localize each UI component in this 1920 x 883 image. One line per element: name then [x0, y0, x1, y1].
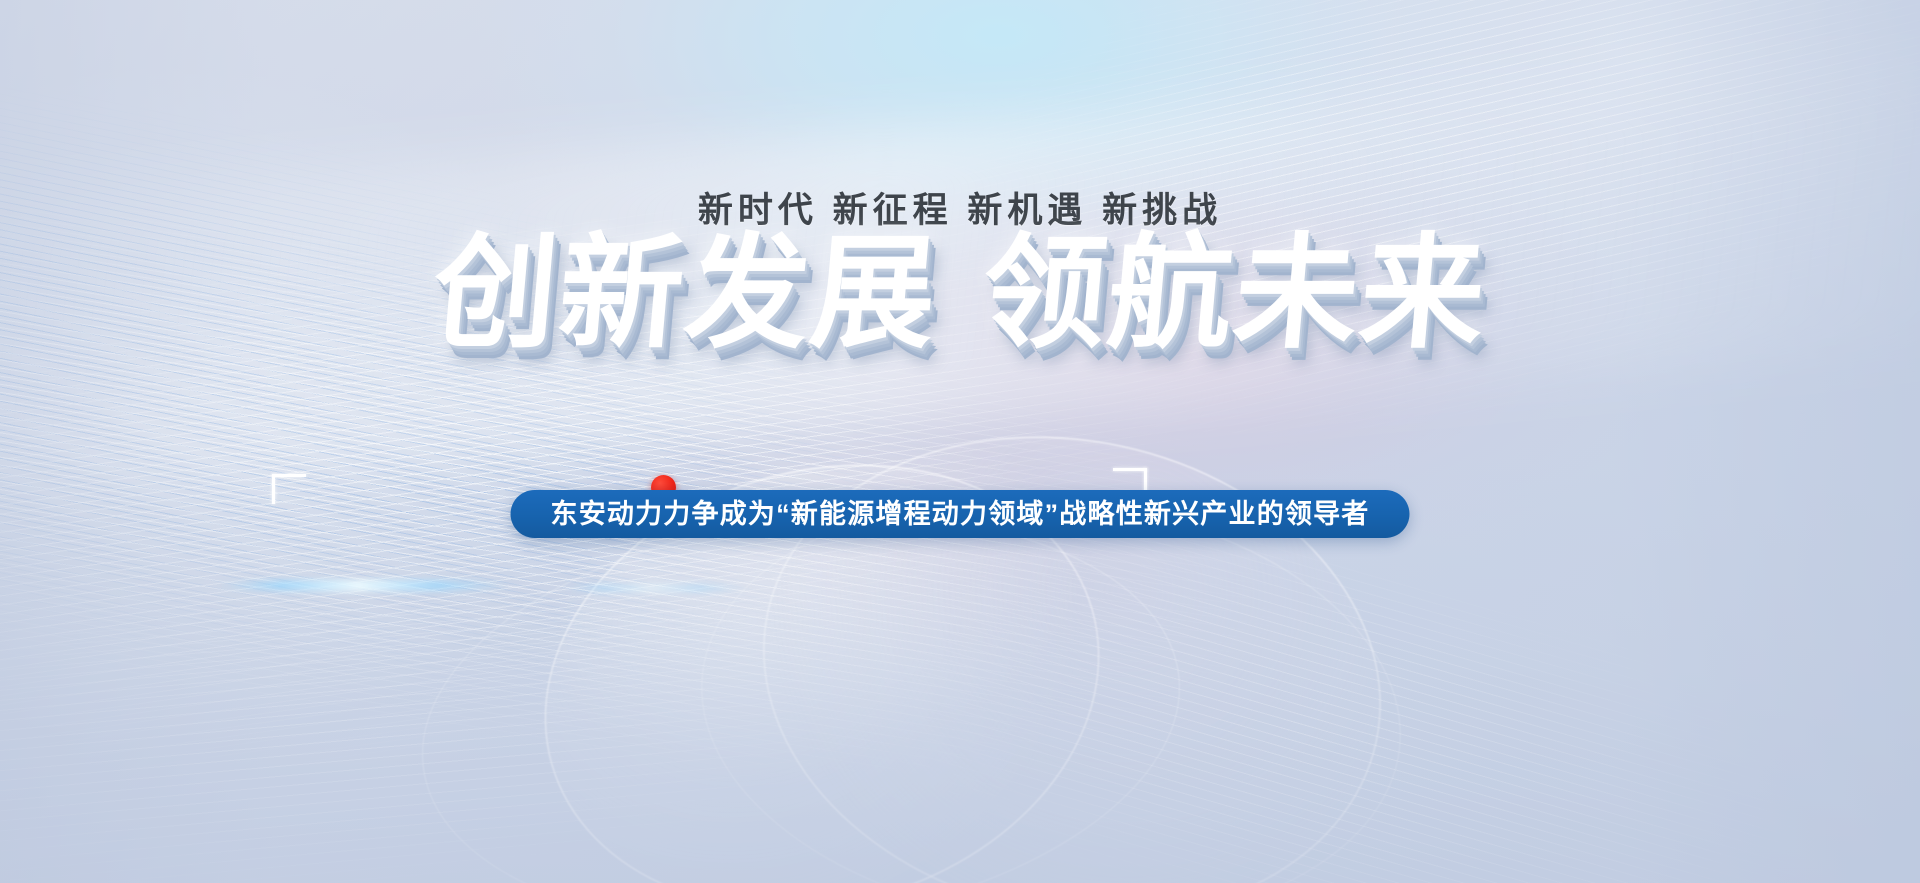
corner-bracket-left-icon	[272, 474, 306, 504]
cyan-light-streak-secondary	[560, 584, 750, 592]
headline-block: 创新发展 领航未来	[0, 232, 1920, 382]
slogan-pill-label: 东安动力力争成为“新能源增程动力领域”战略性新兴产业的领导者	[551, 501, 1370, 528]
banner-headline: 创新发展 领航未来	[0, 232, 1920, 356]
banner-content: 新时代 新征程 新机遇 新挑战 创新发展 领航未来 东安动力力争成为“新能源增程…	[0, 0, 1920, 883]
cyan-light-streak	[215, 580, 515, 591]
promo-banner: 新时代 新征程 新机遇 新挑战 创新发展 领航未来 东安动力力争成为“新能源增程…	[0, 0, 1920, 883]
slogan-pill[interactable]: 东安动力力争成为“新能源增程动力领域”战略性新兴产业的领导者	[511, 490, 1410, 538]
